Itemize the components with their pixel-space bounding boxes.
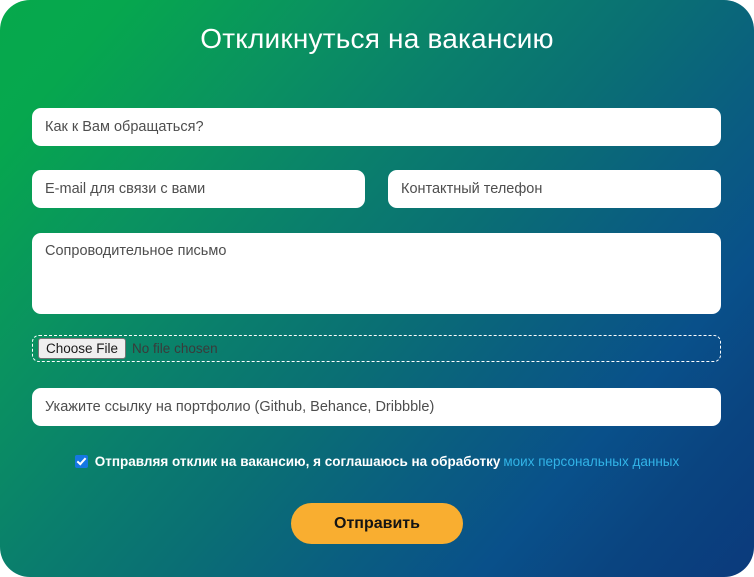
email-input[interactable] <box>32 170 365 208</box>
consent-checkbox[interactable] <box>75 455 88 468</box>
choose-file-button[interactable]: Choose File <box>38 338 126 359</box>
name-input[interactable] <box>32 108 721 146</box>
consent-text: Отправляя отклик на вакансию, я соглашаю… <box>95 454 501 469</box>
cover-letter-textarea[interactable] <box>32 233 721 314</box>
consent-label: Отправляя отклик на вакансию, я соглашаю… <box>95 454 680 469</box>
submit-button[interactable]: Отправить <box>291 503 463 544</box>
phone-input[interactable] <box>388 170 721 208</box>
file-upload-field[interactable]: Choose File No file chosen <box>32 335 721 362</box>
consent-row: Отправляя отклик на вакансию, я соглашаю… <box>0 454 754 469</box>
file-status-label: No file chosen <box>132 341 218 356</box>
page-title: Откликнуться на вакансию <box>0 22 754 56</box>
job-application-form-card: Откликнуться на вакансию Choose File No … <box>0 0 754 577</box>
portfolio-link-input[interactable] <box>32 388 721 426</box>
privacy-policy-link[interactable]: моих персональных данных <box>503 454 679 469</box>
